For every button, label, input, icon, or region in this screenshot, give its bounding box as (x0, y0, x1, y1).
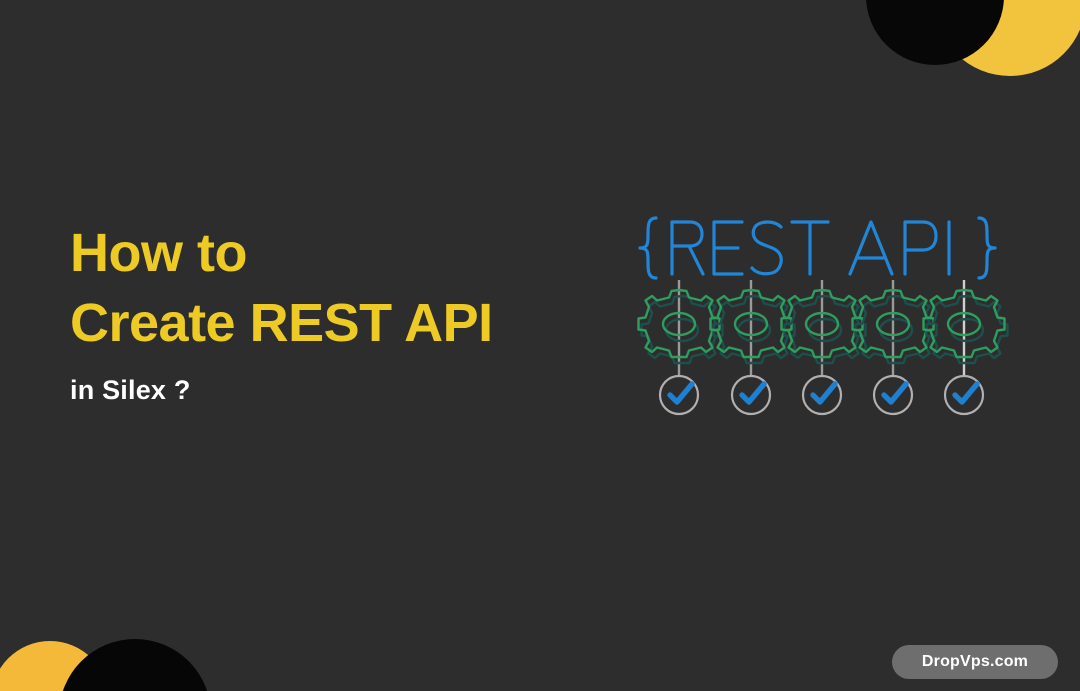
letter-A (850, 222, 892, 274)
page-subtitle: in Silex ? (70, 372, 590, 408)
letter-E (714, 222, 742, 274)
brace-open-icon (640, 218, 656, 278)
check-badge-2 (732, 376, 770, 414)
letter-T (792, 222, 828, 274)
rest-api-text-group (640, 218, 995, 278)
gear-assembly-5 (924, 280, 1008, 414)
gear-assembly-1 (639, 280, 723, 414)
check-badge-1 (660, 376, 698, 414)
decor-circle-top-right-yellow (934, 0, 1080, 76)
slide-canvas: How to Create REST API in Silex ? (0, 0, 1080, 691)
check-badge-5 (945, 376, 983, 414)
check-badge-3 (803, 376, 841, 414)
gear-assembly-3 (782, 280, 866, 414)
gear-assembly-4 (853, 280, 937, 414)
letter-R (672, 222, 703, 274)
letter-P (905, 222, 936, 274)
gear-assembly-2 (711, 280, 795, 414)
decor-circle-bottom-left-yellow (0, 641, 109, 691)
letter-S (752, 222, 781, 274)
brace-close-icon (979, 218, 995, 278)
decor-circle-top-right-black (866, 0, 1004, 65)
headline-block: How to Create REST API in Silex ? (70, 218, 590, 408)
rest-api-illustration (628, 196, 1022, 428)
decor-circle-bottom-left-black (59, 639, 211, 691)
brand-label: DropVps.com (922, 653, 1028, 671)
page-title-line-2: Create REST API (70, 288, 590, 358)
page-title-line-1: How to (70, 218, 590, 288)
brand-badge[interactable]: DropVps.com (892, 645, 1058, 679)
check-badge-4 (874, 376, 912, 414)
